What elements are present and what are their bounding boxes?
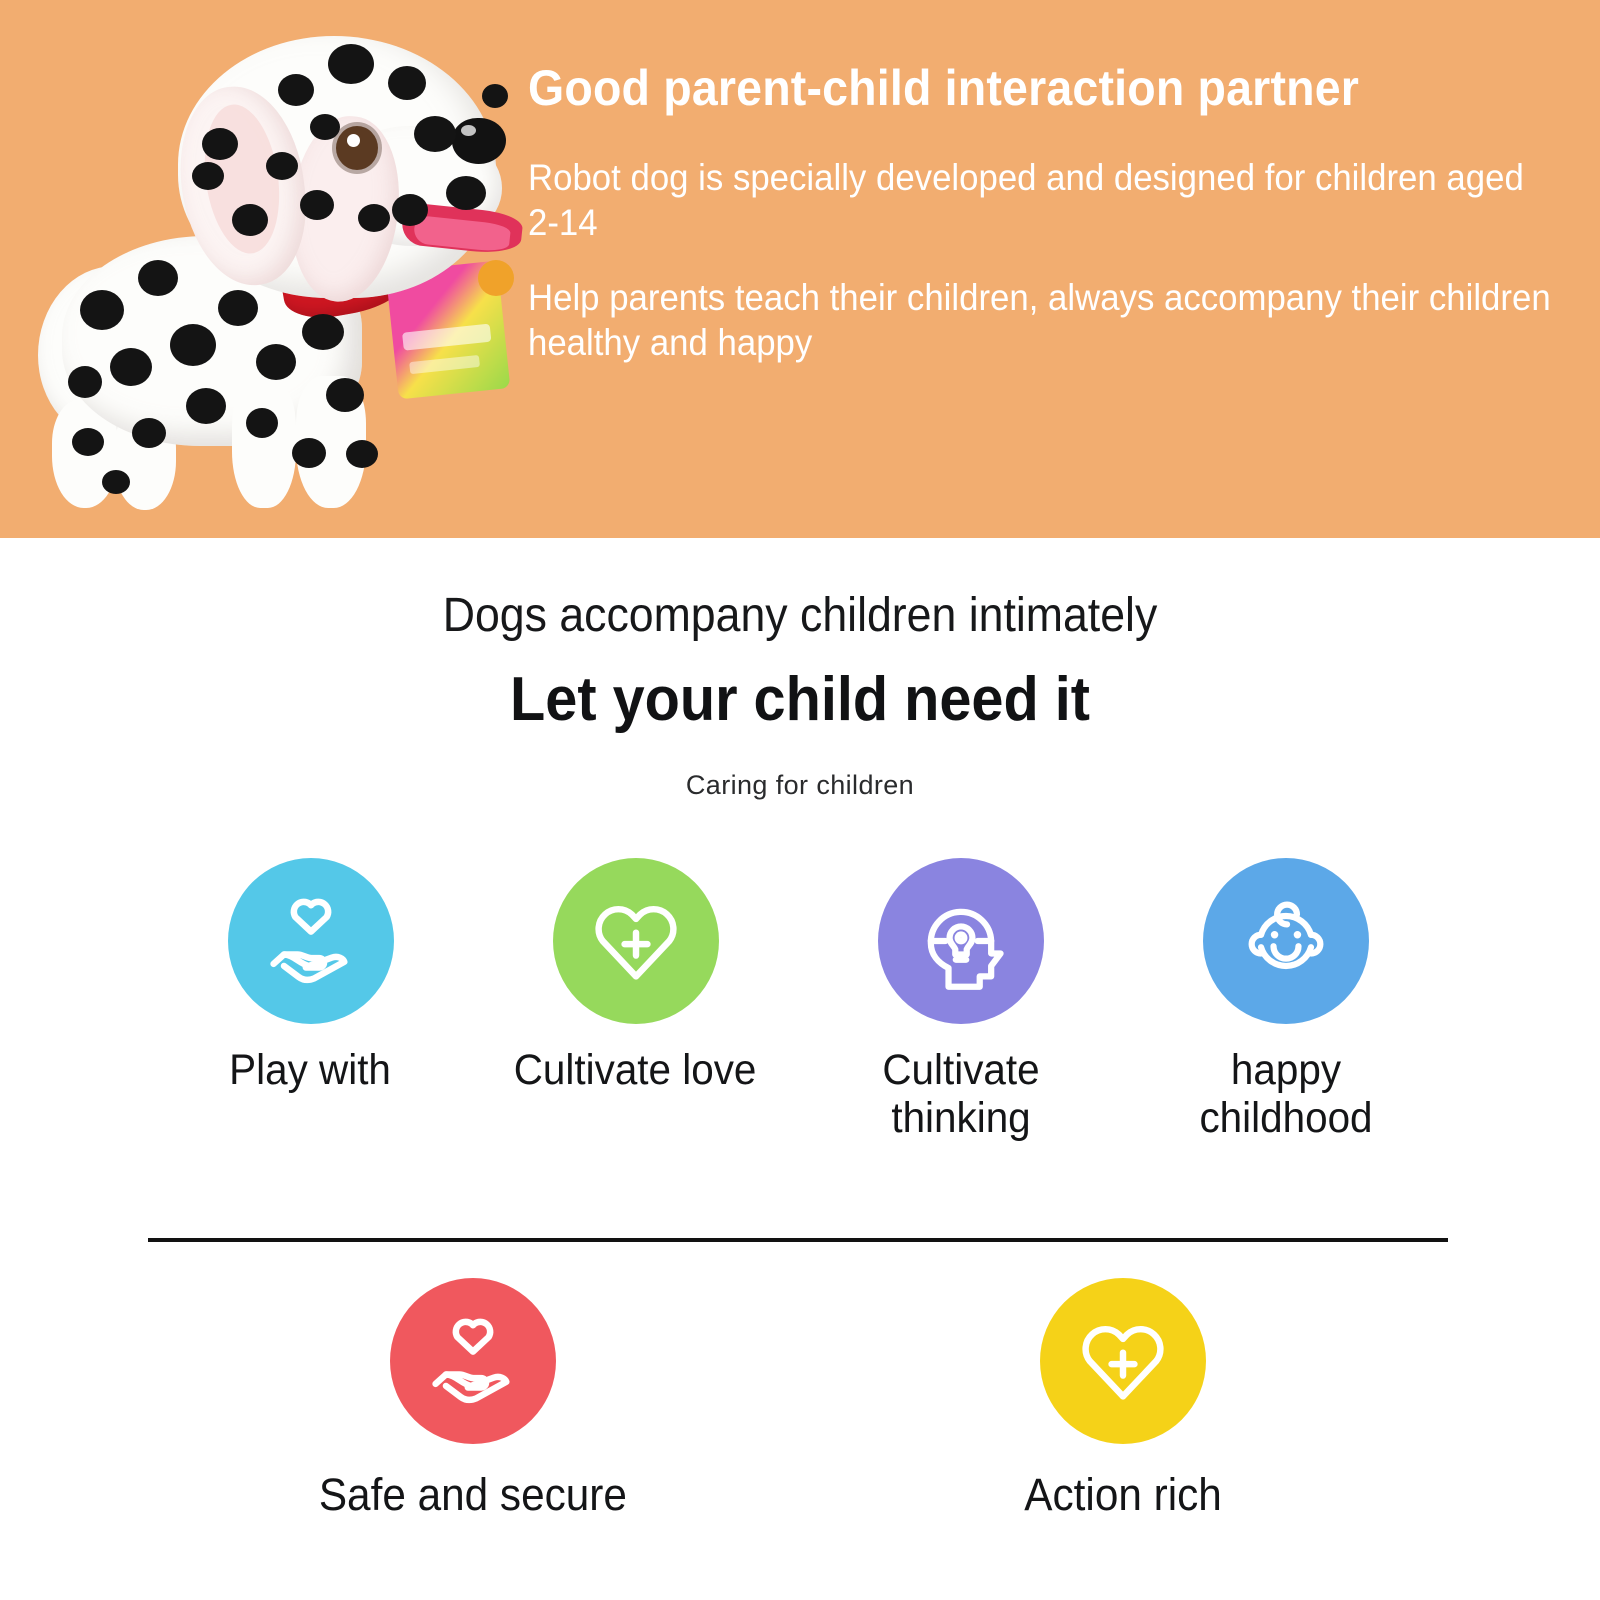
heart-in-hand-icon xyxy=(228,858,394,1024)
hero-paragraph-1: Robot dog is specially developed and des… xyxy=(528,155,1553,245)
feature-action-rich: Action rich xyxy=(798,1278,1448,1520)
feature-label: happy childhood xyxy=(1145,1046,1427,1142)
feature-label: Play with xyxy=(230,1046,392,1094)
feature-safe-and-secure: Safe and secure xyxy=(148,1278,798,1520)
feature-cultivate-thinking: Cultivate thinking xyxy=(798,858,1123,1142)
heart-plus-icon xyxy=(553,858,719,1024)
section-divider xyxy=(148,1238,1448,1242)
feature-label: Cultivate love xyxy=(514,1046,757,1094)
section-kicker: Dogs accompany children intimately xyxy=(56,588,1544,643)
feature-label: Action rich xyxy=(1024,1470,1221,1520)
hero-text-block: Good parent-child interaction partner Ro… xyxy=(528,62,1558,365)
section-subtitle: Caring for children xyxy=(0,770,1600,801)
baby-face-icon xyxy=(1203,858,1369,1024)
head-lightbulb-icon xyxy=(878,858,1044,1024)
feature-row-top: Play with Cultivate love xyxy=(148,858,1448,1142)
section-headline: Let your child need it xyxy=(56,664,1544,735)
feature-label: Safe and secure xyxy=(319,1470,627,1520)
hero-title: Good parent-child interaction partner xyxy=(528,62,1486,115)
heart-in-hand-icon xyxy=(390,1278,556,1444)
feature-play-with: Play with xyxy=(148,858,473,1142)
product-infographic-page: Good parent-child interaction partner Ro… xyxy=(0,0,1600,1600)
hero-paragraph-2: Help parents teach their children, alway… xyxy=(528,275,1553,365)
product-photo-dalmatian-robot-dog xyxy=(10,8,520,533)
feature-cultivate-love: Cultivate love xyxy=(473,858,798,1142)
feature-happy-childhood: happy childhood xyxy=(1123,858,1448,1142)
features-section: Dogs accompany children intimately Let y… xyxy=(0,538,1600,1600)
heart-plus-icon xyxy=(1040,1278,1206,1444)
feature-row-bottom: Safe and secure Action rich xyxy=(148,1278,1448,1520)
feature-label: Cultivate thinking xyxy=(820,1046,1102,1142)
hero-banner: Good parent-child interaction partner Ro… xyxy=(0,0,1600,538)
